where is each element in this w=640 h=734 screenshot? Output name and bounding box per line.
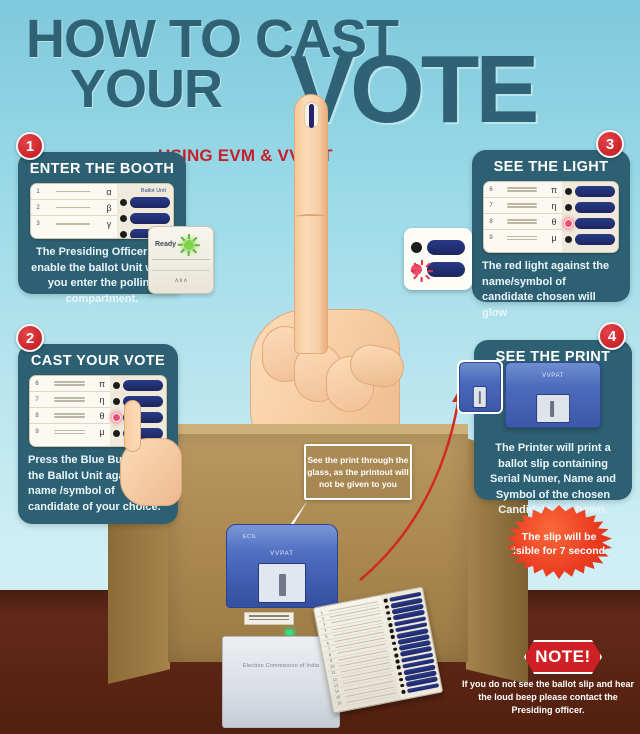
row-symbol: γ [101, 219, 117, 229]
row-num: 9 [484, 235, 498, 241]
row-symbol: μ [546, 233, 562, 243]
lamp-indicator-icon [120, 215, 127, 222]
row-num: 2 [31, 205, 45, 211]
row-symbol: β [101, 203, 117, 213]
vvpat-printer-inset-body [459, 362, 501, 412]
row-num: 3 [31, 221, 45, 227]
vote-button[interactable] [575, 202, 615, 213]
index-finger [294, 94, 328, 354]
vote-button[interactable] [427, 240, 465, 255]
control-unit-divider [152, 259, 210, 260]
step-badge-2: 2 [16, 324, 44, 352]
row-symbol: η [94, 395, 110, 405]
row-symbol: α [101, 187, 117, 197]
vote-button[interactable] [575, 186, 615, 197]
lamp-indicator-icon [411, 242, 422, 253]
row-num: 8 [30, 413, 44, 419]
lamp-glow-rays-icon [411, 260, 433, 282]
lamp-indicator-icon [120, 199, 127, 206]
lamp-indicator-icon [120, 231, 127, 238]
step-2-title: CAST YOUR VOTE [18, 344, 178, 369]
inked-finger-hand-illustration [246, 94, 406, 464]
step-card-see-the-light: SEE THE LIGHT 6π 7η 8θ 9μ The red light … [472, 150, 630, 302]
row-num: 6 [30, 381, 44, 387]
lamp-indicator-icon [113, 382, 120, 389]
booth-top-edge [168, 424, 468, 434]
vote-button[interactable] [130, 213, 170, 224]
indelible-ink-mark-icon [309, 104, 314, 128]
row-symbol: η [546, 201, 562, 211]
vote-button-selected[interactable] [575, 218, 615, 229]
control-unit-status-label: Ready [155, 241, 176, 248]
step-3-candidate-list: 6π 7η 8θ 9μ [484, 182, 562, 252]
control-unit-ready-illustration: Ready ∧∧∧ [148, 226, 214, 294]
row-symbol: π [546, 185, 562, 195]
vote-button[interactable] [130, 197, 170, 208]
row-symbol: θ [94, 411, 110, 421]
note-badge: NOTE! [524, 640, 602, 674]
row-symbol: π [94, 379, 110, 389]
step-badge-1: 1 [16, 132, 44, 160]
vote-button[interactable] [575, 234, 615, 245]
ballot-unit-on-table: 1 2 3 4 5 6 7 8 9 10 11 12 13 14 15 16 [313, 586, 444, 713]
lamp-indicator-icon [565, 204, 572, 211]
lamp-zoom-row-off [411, 236, 465, 258]
step-2-candidate-list: 6π 7η 8θ 9μ [30, 376, 110, 446]
row-num: 7 [484, 203, 498, 209]
pointing-hand-illustration [118, 400, 188, 510]
row-num: 9 [30, 429, 44, 435]
printer-inset-glass-window [473, 386, 487, 408]
lamp-indicator-icon [565, 188, 572, 195]
vvpat-printer-body: ECIL VVPAT [226, 524, 338, 608]
row-num: 8 [484, 219, 498, 225]
control-unit-divider-2 [152, 270, 210, 271]
knuckle-crease [296, 214, 326, 219]
vvpat-name-label: VVPAT [270, 551, 294, 557]
vote-button[interactable] [123, 380, 163, 391]
vvpat-brand-label: ECIL [243, 534, 257, 540]
vvpat-status-led-icon [286, 630, 293, 635]
ballot-unit-header-label: Ballot Unit [120, 186, 170, 194]
step-1-title: ENTER THE BOOTH [18, 152, 186, 177]
row-num: 7 [30, 397, 44, 403]
vvpat-glass-window [258, 563, 306, 603]
note-text: If you do not see the ballot slip and he… [460, 678, 636, 717]
vvpat-printer-inset [457, 360, 503, 414]
infographic-poster: HOW TO CAST YOUR VOTE USING EVM & VVPAT … [0, 0, 640, 734]
printer-brand-label: VVPAT [542, 373, 564, 379]
step-3-button-column [562, 182, 618, 252]
title-line-2: YOUR [70, 62, 222, 116]
green-ready-light-icon [179, 235, 199, 255]
see-the-print-callout: See the print through the glass, as the … [304, 444, 412, 500]
row-symbol: θ [546, 217, 562, 227]
drop-box-caption: Election Commission of India [223, 663, 339, 669]
callout-text: See the print through the glass, as the … [306, 454, 410, 490]
starburst-text: The slip will be visible for 7 seconds [505, 530, 613, 558]
row-num: 6 [484, 187, 498, 193]
control-unit-footer: ∧∧∧ [149, 277, 213, 284]
vvpat-ballot-slip [244, 612, 294, 625]
vvpat-printer-illustration: VVPAT [505, 362, 601, 428]
lamp-zoom-callout [404, 228, 472, 290]
step-badge-4: 4 [598, 322, 626, 350]
step-badge-3: 3 [596, 130, 624, 158]
row-num: 1 [31, 189, 45, 195]
step-3-ballot-unit-illustration: 6π 7η 8θ 9μ [483, 181, 619, 253]
printer-glass-window [536, 394, 570, 423]
step-1-candidate-list: 1α 2β 3γ [31, 184, 117, 238]
lamp-indicator-icon [565, 236, 572, 243]
note-badge-label: NOTE! [535, 647, 590, 667]
row-symbol: μ [94, 427, 110, 437]
lamp-indicator-icon-lit [565, 220, 572, 227]
step-3-body: The red light against the name/symbol of… [472, 253, 630, 330]
